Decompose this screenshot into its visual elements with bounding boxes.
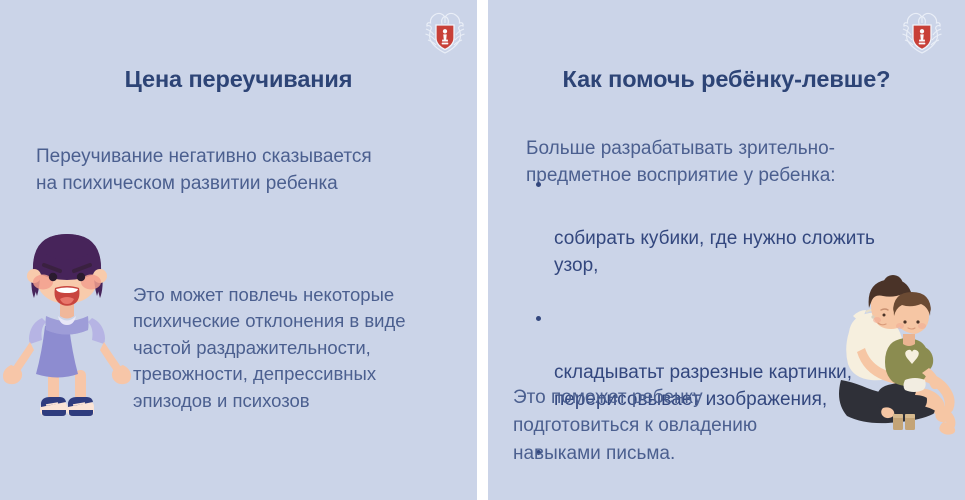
- conclusion-paragraph: Это поможет ребенку подготовиться к овла…: [513, 384, 843, 468]
- bullet-dot-icon: [536, 316, 541, 321]
- consequences-paragraph: Это может повлечь некоторые психические …: [133, 282, 463, 415]
- list-item-label: рисовать по точкам.: [554, 496, 732, 500]
- ministry-emblem-icon: [900, 9, 944, 55]
- page-title: Как помочь ребёнку-левше?: [488, 66, 965, 93]
- bullet-dot-icon: [536, 182, 541, 187]
- slide-cost-of-retraining: Цена переучивания Переучивание негативно…: [0, 0, 477, 500]
- page-title: Цена переучивания: [0, 66, 477, 93]
- mother-and-child-illustration: [821, 268, 965, 448]
- slide-how-to-help: Как помочь ребёнку-левше? Больше разраба…: [488, 0, 965, 500]
- slide-divider: [477, 0, 488, 500]
- angry-girl-illustration: [2, 230, 132, 430]
- list-item: собирать кубики, где нужно сложить узор,: [533, 172, 943, 280]
- slide-deck: Цена переучивания Переучивание негативно…: [0, 0, 965, 500]
- intro-paragraph: Переучивание негативно сказывается на пс…: [36, 144, 456, 198]
- ministry-emblem-icon: [423, 9, 467, 55]
